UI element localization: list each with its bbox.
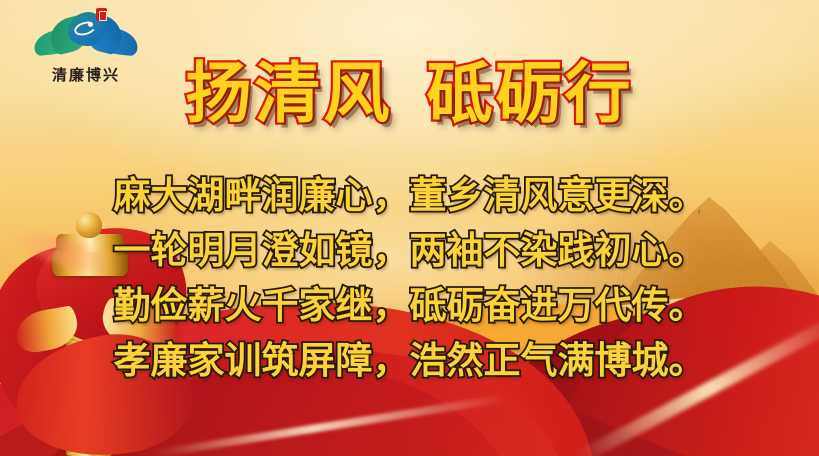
poem-line: 孝廉家训筑屏障，浩然正气满博城。 [0,333,819,388]
ribbon-highlight [152,394,509,456]
poem-line: 一轮明月澄如镜，两袖不染践初心。 [0,223,819,278]
page-title-part1: 扬清风 [186,55,393,132]
red-seal-icon [96,8,107,21]
poem-block: 麻大湖畔润廉心，董乡清风意更深。 一轮明月澄如镜，两袖不染践初心。 勤俭薪火千家… [0,168,819,388]
page-title-part2: 砥砺行 [427,55,634,132]
page-title: 扬清风砥砺行 [0,52,819,136]
poem-line: 勤俭薪火千家继，砥砺奋进万代传。 [0,278,819,333]
poem-line: 麻大湖畔润廉心，董乡清风意更深。 [0,168,819,223]
lotus-dot [88,22,93,27]
propaganda-poster: 清廉博兴 扬清风砥砺行 麻大湖畔润廉心，董乡清风意更深。 一轮明月澄如镜，两袖不… [0,0,819,456]
